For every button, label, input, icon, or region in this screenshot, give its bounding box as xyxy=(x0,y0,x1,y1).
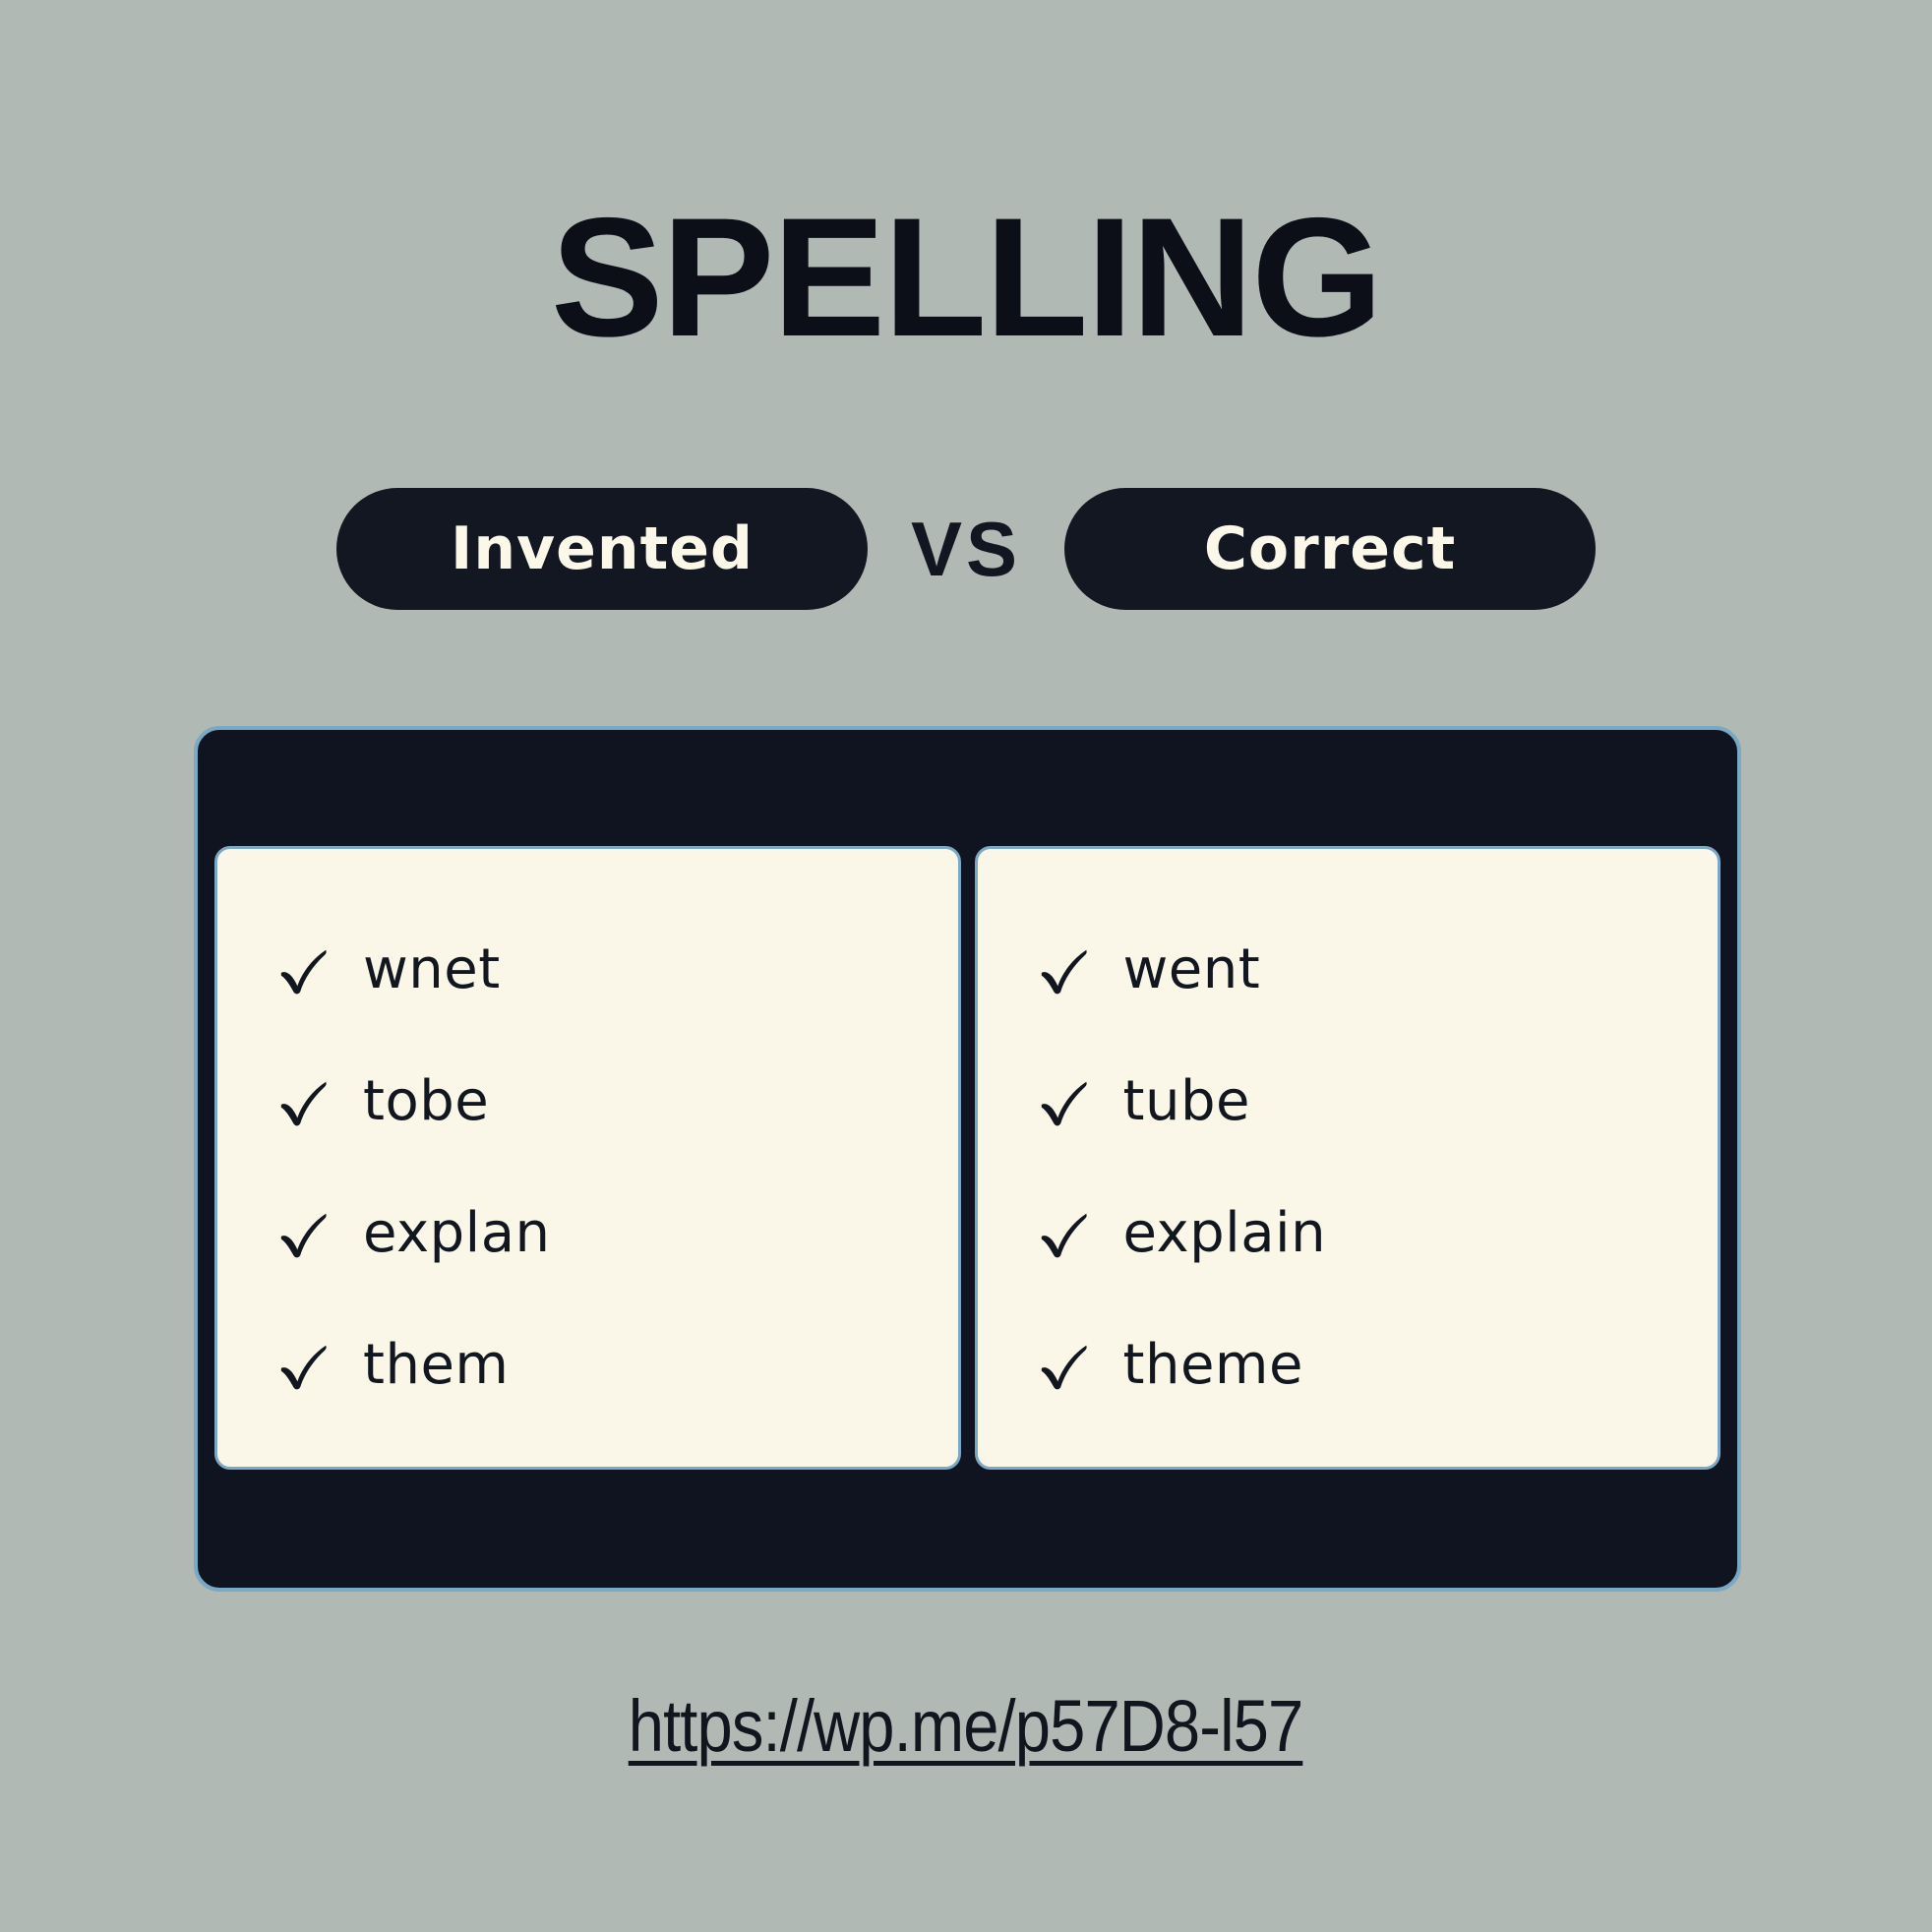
list-item: explain xyxy=(1037,1168,1719,1299)
correct-pill-label: Correct xyxy=(1204,519,1456,578)
list-item: them xyxy=(276,1299,958,1431)
word-text: explain xyxy=(1123,1206,1327,1261)
versus-label: VS xyxy=(893,511,1039,587)
invented-pill-label: Invented xyxy=(451,519,754,578)
list-item: explan xyxy=(276,1168,958,1299)
word-text: went xyxy=(1123,942,1261,997)
comparison-header: Invented VS Correct xyxy=(0,488,1932,610)
footer-link[interactable]: https://wp.me/p57D8-l57 xyxy=(0,1684,1932,1768)
list-item: went xyxy=(1037,904,1719,1036)
check-icon xyxy=(1037,941,1094,998)
word-text: them xyxy=(363,1338,509,1393)
invented-words-card: wnet tobe explan xyxy=(214,846,961,1470)
list-item: tube xyxy=(1037,1036,1719,1168)
check-icon xyxy=(1037,1337,1094,1394)
list-item: theme xyxy=(1037,1299,1719,1431)
check-icon xyxy=(1037,1073,1094,1130)
comparison-panel: wnet tobe explan xyxy=(194,726,1741,1592)
check-icon xyxy=(276,1073,333,1130)
page-title: SPELLING xyxy=(0,193,1932,362)
check-icon xyxy=(276,1337,333,1394)
list-item: tobe xyxy=(276,1036,958,1168)
word-text: wnet xyxy=(363,942,501,997)
correct-words-card: went tube explain xyxy=(975,846,1721,1470)
check-icon xyxy=(276,1205,333,1262)
poster-canvas: SPELLING Invented VS Correct wnet xyxy=(0,0,1932,1932)
footer-link-text[interactable]: https://wp.me/p57D8-l57 xyxy=(629,1684,1303,1768)
word-text: explan xyxy=(363,1206,551,1261)
word-text: tobe xyxy=(363,1074,489,1129)
word-text: theme xyxy=(1123,1338,1303,1393)
check-icon xyxy=(1037,1205,1094,1262)
correct-pill[interactable]: Correct xyxy=(1064,488,1596,610)
list-item: wnet xyxy=(276,904,958,1036)
invented-pill[interactable]: Invented xyxy=(336,488,868,610)
word-cards-container: wnet tobe explan xyxy=(214,846,1721,1470)
check-icon xyxy=(276,941,333,998)
word-text: tube xyxy=(1123,1074,1250,1129)
